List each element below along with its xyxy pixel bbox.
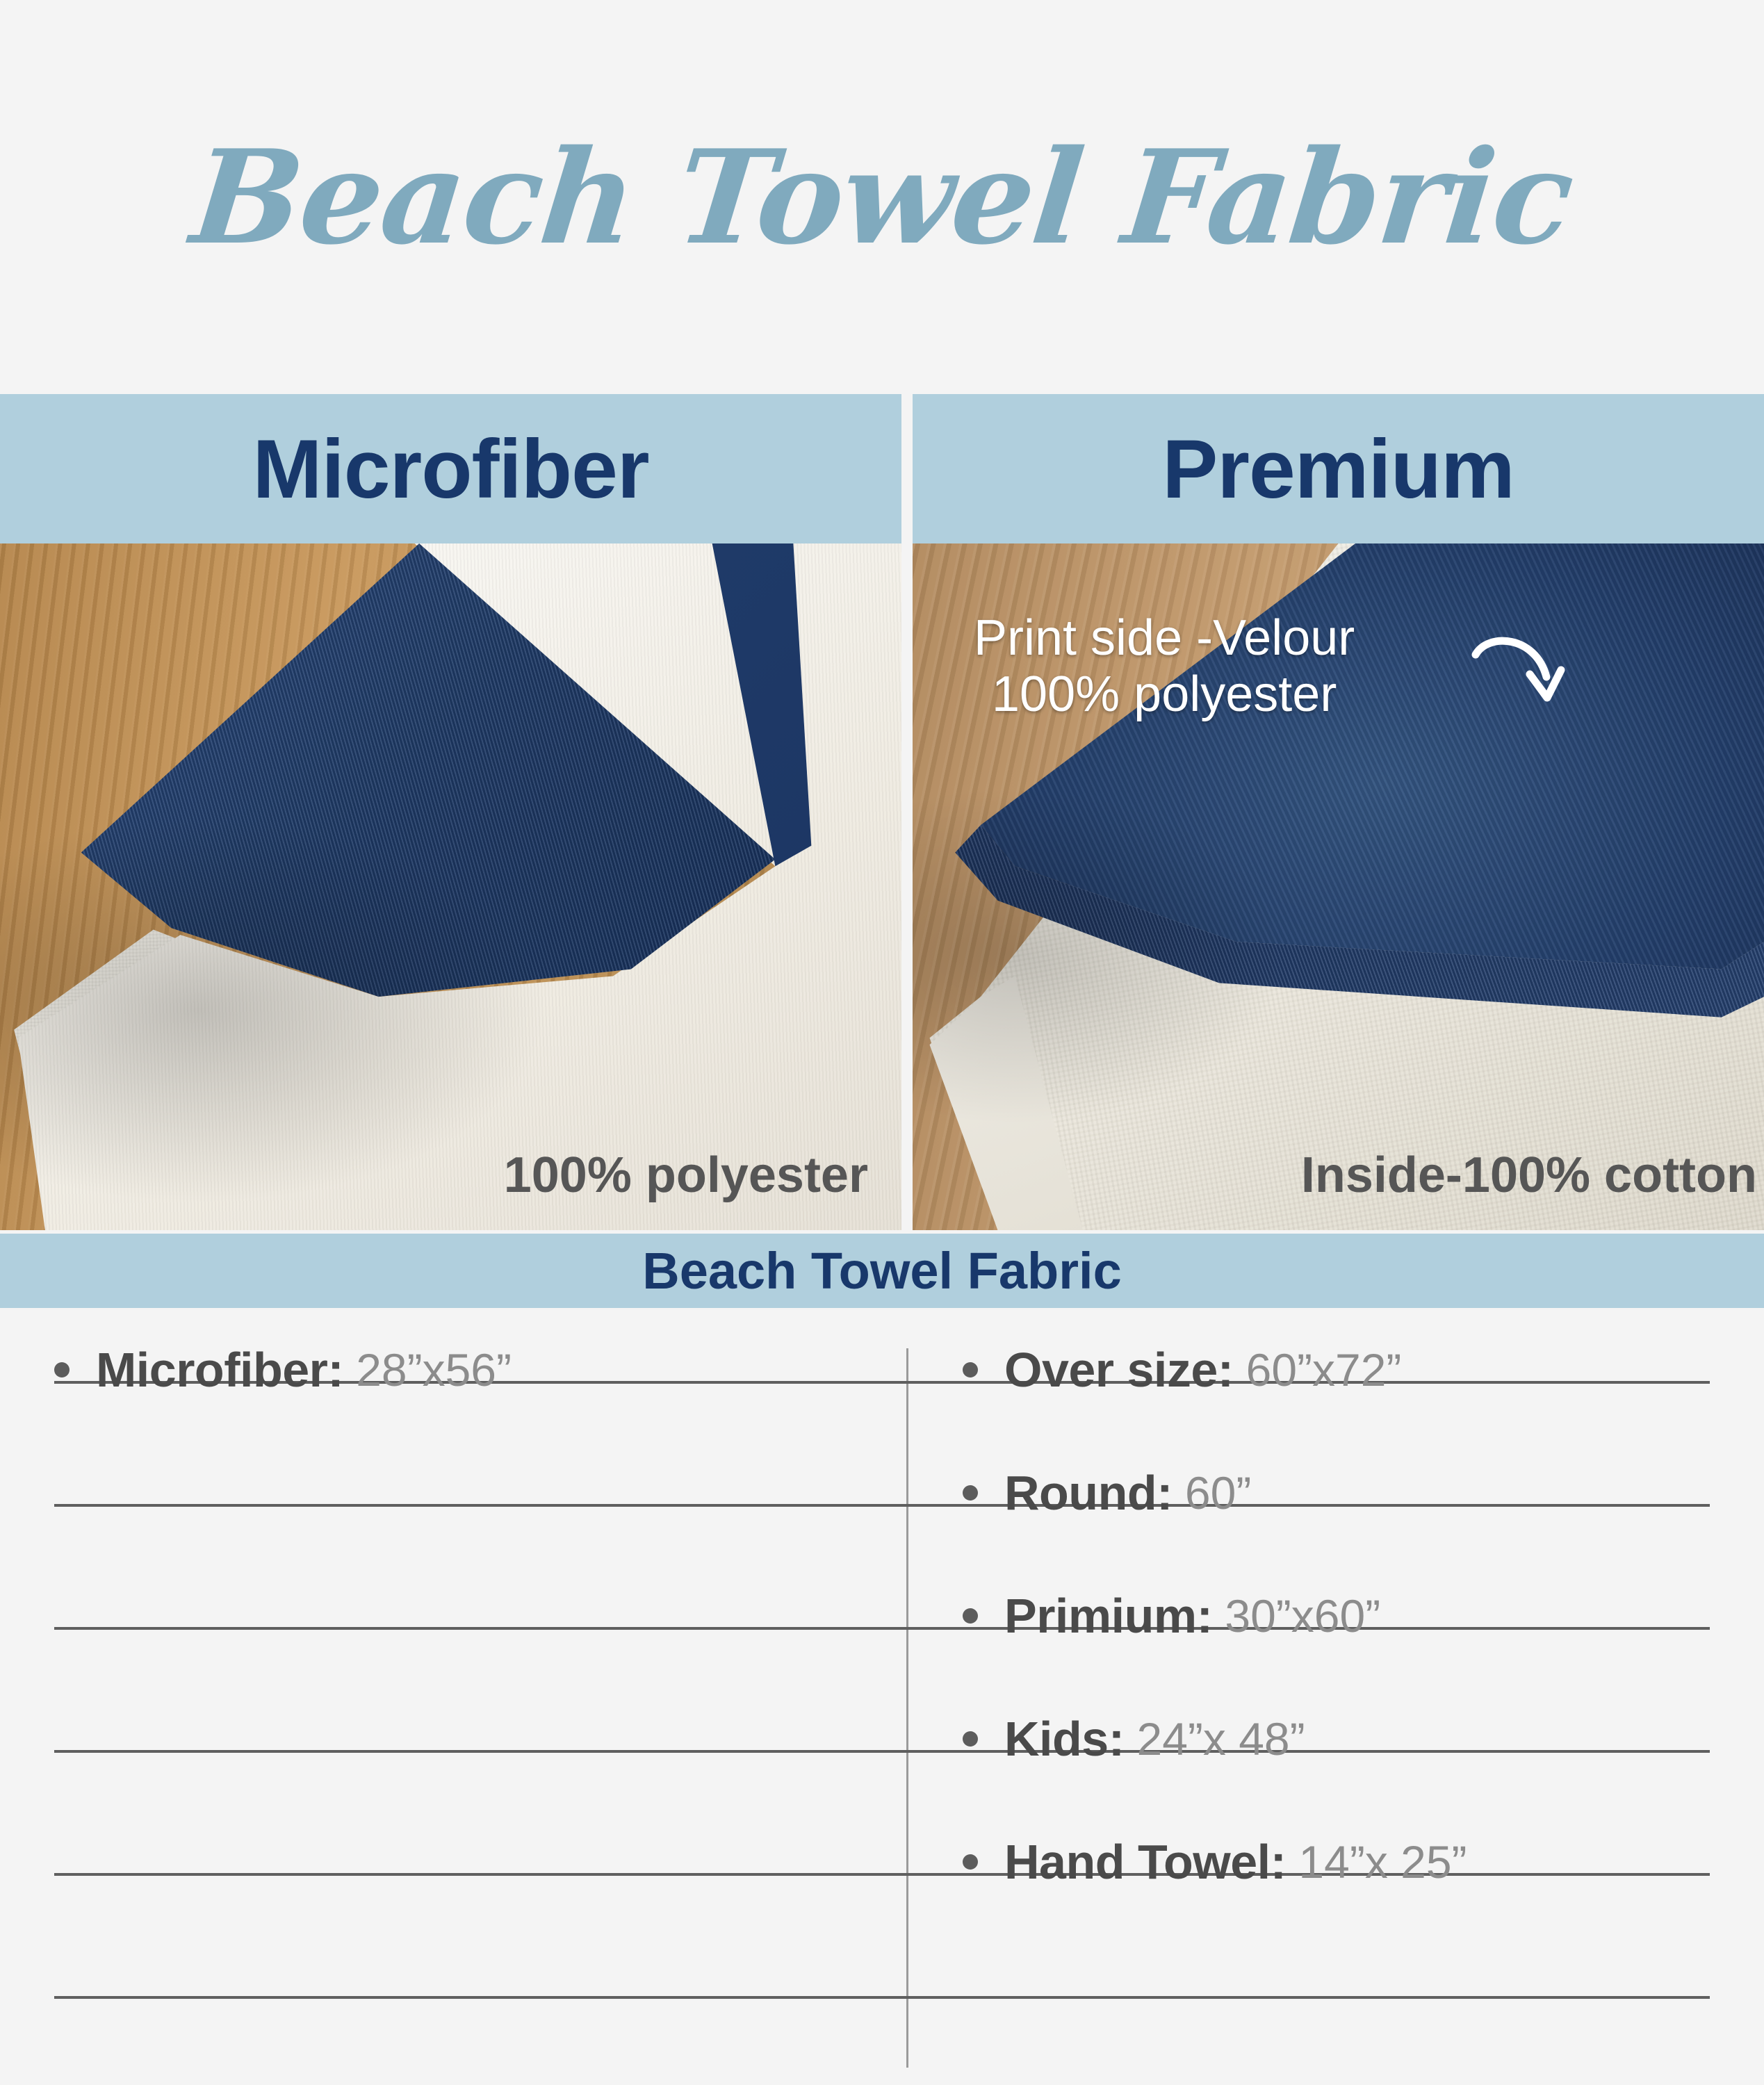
spec-label: Kids: [1004,1711,1125,1767]
column-header-premium: Premium [913,394,1764,543]
spec-value: 28”x56” [356,1343,512,1396]
column-header-microfiber: Microfiber [0,394,901,543]
spec-row-kids: Kids: 24”x 48” [907,1677,1764,1800]
spec-row-primium: Primium: 30”x60” [907,1554,1764,1677]
section-band-beach-towel-fabric: Beach Towel Fabric [0,1234,1764,1308]
page-title: Beach Towel Fabric [186,133,1578,262]
spec-label: Round: [1004,1465,1173,1521]
spec-value: 30”x60” [1225,1589,1380,1642]
comparison-photo-row: 100% polyester Print side -Velour 100% p… [0,543,1764,1230]
comparison-heading-row: Microfiber Premium [0,394,1764,543]
spec-value: 14”x 25” [1298,1835,1467,1888]
spec-value: 60”x72” [1246,1343,1402,1396]
spec-label: Microfiber: [96,1342,343,1398]
spec-label: Hand Towel: [1004,1834,1286,1890]
spec-column-left: Microfiber: 28”x56” [0,1308,907,2077]
section-band-title: Beach Towel Fabric [642,1241,1122,1300]
column-divider-gap [901,394,913,543]
microfiber-photo: 100% polyester [0,543,901,1230]
curved-down-arrow-icon [1469,625,1580,737]
column-header-microfiber-label: Microfiber [252,427,648,511]
photo-divider-gap [901,543,913,1230]
bullet-icon [963,1608,978,1624]
bullet-icon [963,1854,978,1870]
microfiber-photo-caption: 100% polyester [504,1147,868,1204]
bullet-icon [963,1731,978,1747]
premium-photo-caption: Inside-100% cotton [1301,1147,1757,1204]
page-title-area: Beach Towel Fabric [0,0,1764,394]
spec-label: Primium: [1004,1588,1212,1644]
bullet-icon [963,1362,978,1377]
bullet-icon [963,1485,978,1501]
column-header-premium-label: Premium [1162,427,1514,511]
premium-overlay-line2: 100% polyester [974,667,1355,723]
spec-row-hand-towel: Hand Towel: 14”x 25” [907,1800,1764,1923]
spec-row-over-size: Over size: 60”x72” [907,1308,1764,1431]
spec-column-right: Over size: 60”x72” Round: 60” Primium: 3… [907,1308,1764,2077]
towel-shadow [0,543,901,1230]
spec-value: 60” [1185,1466,1251,1519]
spec-label: Over size: [1004,1342,1234,1398]
spec-row-microfiber: Microfiber: 28”x56” [0,1308,907,1431]
premium-overlay-text: Print side -Velour 100% polyester [974,610,1355,722]
bullet-icon [54,1362,70,1377]
spec-row-round: Round: 60” [907,1431,1764,1554]
spec-table: Microfiber: 28”x56” Over size: 60”x72” R… [0,1308,1764,2077]
spec-value: 24”x 48” [1137,1712,1305,1765]
premium-overlay-line1: Print side -Velour [974,610,1355,666]
premium-photo: Print side -Velour 100% polyester Inside… [913,543,1764,1230]
